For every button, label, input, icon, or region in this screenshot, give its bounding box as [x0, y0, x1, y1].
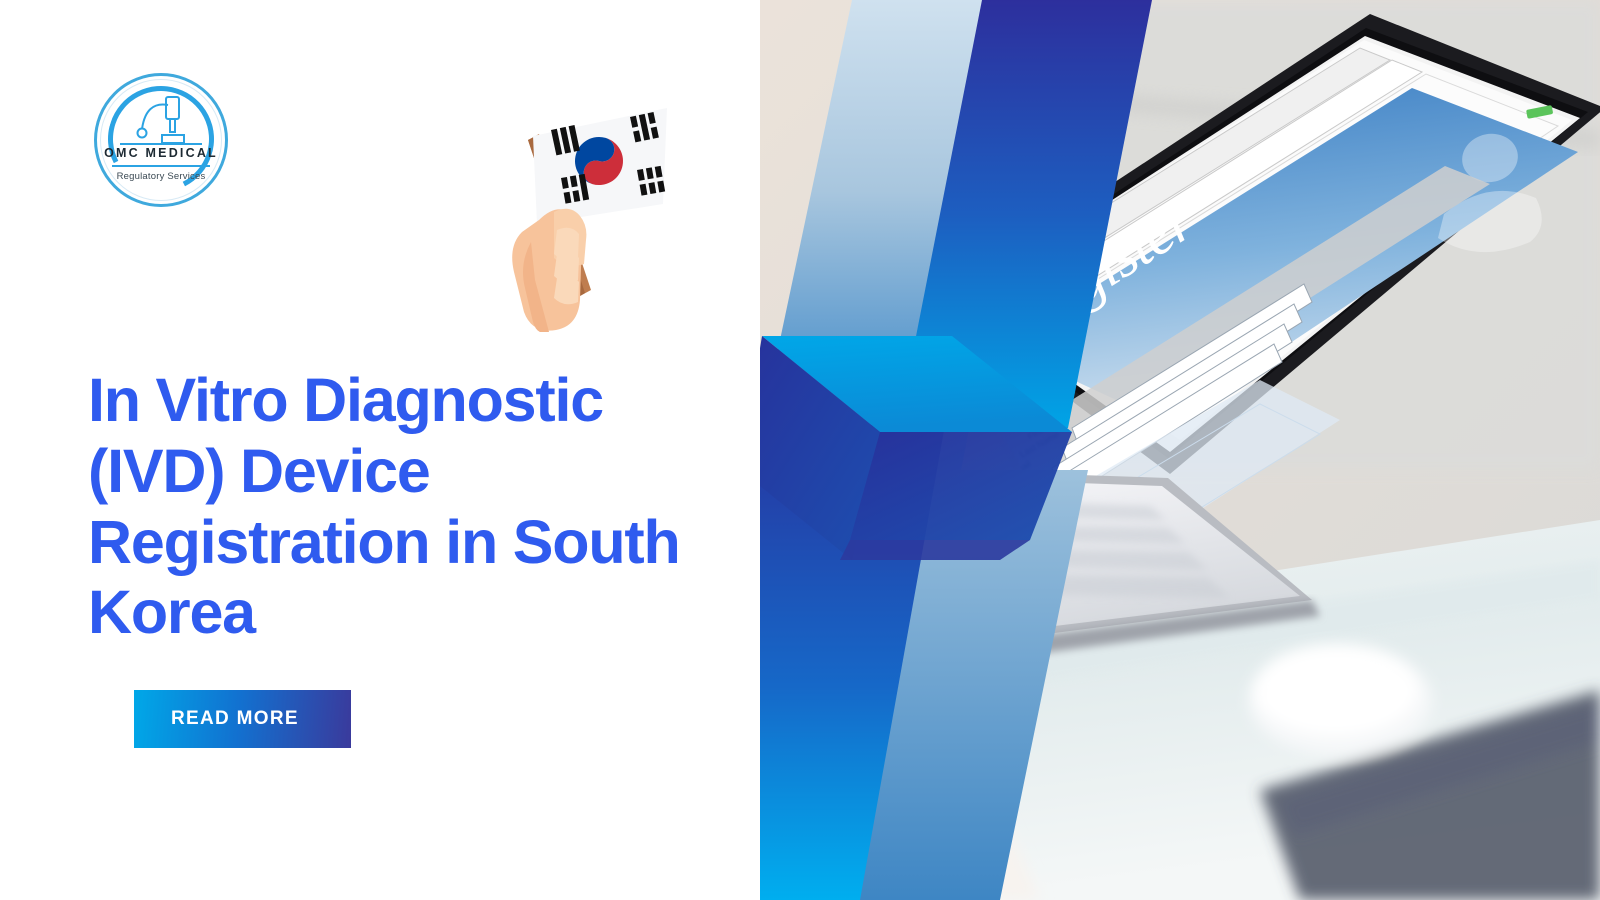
hand-holding-south-korea-flag-icon: [495, 92, 680, 332]
logo-subtitle: Regulatory Services: [94, 171, 228, 182]
logo-title: OMC MEDICAL: [94, 146, 228, 160]
hero-image-zone: ← → C ✕ Register: [700, 0, 1600, 900]
microscope-icon: [128, 95, 194, 147]
diagonal-bands-graphic: [700, 0, 1600, 900]
content-panel: OMC MEDICAL Regulatory Services: [0, 0, 760, 900]
logo-baseline: [120, 143, 202, 145]
logo-divider: [112, 165, 210, 167]
ivd-korea-banner: ← → C ✕ Register: [0, 0, 1600, 900]
read-more-button[interactable]: READ MORE: [134, 690, 351, 748]
page-title: In Vitro Diagnostic (IVD) Device Registr…: [88, 365, 728, 648]
omc-medical-logo[interactable]: OMC MEDICAL Regulatory Services: [94, 73, 228, 207]
